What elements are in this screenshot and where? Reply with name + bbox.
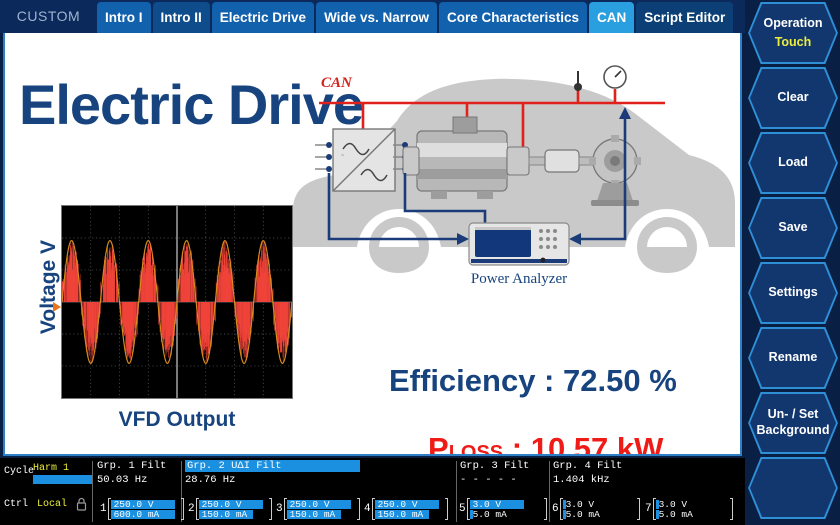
bar-value: 150.0 mA [375,509,424,520]
inverter-terminals [315,142,332,172]
harmonic-bar [33,475,92,484]
channel-voltage-bar: 3.0 V [470,500,544,509]
harmonic-label: Harm 1 [33,463,69,474]
channel-1[interactable]: 1250.0 V600.0 mA [100,498,184,520]
channel-4[interactable]: 4250.0 V150.0 mA [364,498,448,520]
tab-bar: CUSTOM Intro IIntro IIElectric DriveWide… [0,0,745,33]
tab-electric-drive[interactable]: Electric Drive [212,2,314,33]
channel-bracket-right [637,498,640,520]
channel-bracket-right [445,498,448,520]
group-title: Grp. 4 Filt [553,460,622,472]
channel-number: 2 [188,503,195,515]
softkey-blank-7[interactable] [748,457,838,519]
bar-value: 600.0 mA [111,509,160,520]
status-divider [456,461,457,522]
group-4[interactable]: Grp. 4 Filt1.404 kHz [553,460,622,486]
power-analyzer-label: Power Analyzer [471,271,567,287]
channel-bracket-right [181,498,184,520]
softkey-label: Un- / Set Background [757,407,830,438]
channel-bracket-right [269,498,272,520]
inverter-icon: ~ [333,129,395,191]
power-analyzer-icon [469,223,569,265]
speed-gauge-icon [604,66,626,88]
channel-number: 1 [100,503,107,515]
softkey-sublabel: Touch [775,35,812,51]
channel-current-bar: 600.0 mA [111,510,181,519]
group-frequency: 1.404 kHz [553,474,622,486]
softkey-clear[interactable]: Clear [748,67,838,129]
group-frequency: - - - - - [460,474,529,486]
channel-current-bar: 5.0 mA [563,510,637,519]
softkey-operation[interactable]: OperationTouch [748,2,838,64]
power-loss-value: 10.57 kW [531,431,664,456]
efficiency-value: 72.50 % [563,363,677,398]
waveform-y-axis-label: Voltage V [37,217,61,357]
status-bar: Cycle Harm 1 Ctrl Local Grp. 1 Filt50.03… [0,458,745,525]
channel-3[interactable]: 3250.0 V150.0 mA [276,498,360,520]
channel-bracket-right [730,498,733,520]
channel-voltage-bar: 250.0 V [375,500,445,509]
softkey-rename[interactable]: Rename [748,327,838,389]
waveform-plot[interactable] [61,205,293,399]
bar-value: 5.0 mA [470,509,507,520]
channel-bracket-right [544,498,547,520]
efficiency-readout: Efficiency : 72.50 % [389,363,677,399]
trigger-arrow-icon [53,302,61,312]
channel-number: 4 [364,503,371,515]
power-loss-readout: PLOSS : 10.57 kW [428,431,663,456]
bar-value: 5.0 mA [656,509,693,520]
local-mode-label: Local [37,499,67,510]
group-2[interactable]: Grp. 2 UΔI Filt28.76 Hz [185,460,360,486]
channel-6[interactable]: 63.0 V5.0 mA [552,498,640,520]
bar-value: 5.0 mA [563,509,600,520]
softkey-label: Operation [763,16,822,32]
channel-number: 5 [459,503,466,515]
softkey-label: Clear [777,90,808,106]
group-3[interactable]: Grp. 3 Filt- - - - - [460,460,529,486]
status-divider [92,461,93,522]
power-loss-label: P [428,431,449,456]
tab-can[interactable]: CAN [589,2,634,33]
soft-key-sidebar: OperationTouchClearLoadSaveSettingsRenam… [745,0,840,525]
tab-wide-vs-narrow[interactable]: Wide vs. Narrow [316,2,437,33]
tab-intro-i[interactable]: Intro I [97,2,151,33]
channel-current-bar: 5.0 mA [470,510,544,519]
softkey-label: Settings [768,285,817,301]
tab-core-characteristics[interactable]: Core Characteristics [439,2,587,33]
channel-7[interactable]: 73.0 V5.0 mA [645,498,733,520]
group-title: Grp. 3 Filt [460,460,529,472]
softkey-label: Save [778,220,807,236]
can-label: CAN [321,75,353,91]
power-loss-separator: : [503,431,531,456]
group-frequency: 28.76 Hz [185,474,360,486]
channel-number: 3 [276,503,283,515]
torque-sensor-icon [574,71,582,91]
channel-current-bar: 5.0 mA [656,510,730,519]
channel-bracket-right [357,498,360,520]
group-1[interactable]: Grp. 1 Filt50.03 Hz [97,460,166,486]
bar-value: 150.0 mA [199,509,248,520]
softkey-save[interactable]: Save [748,197,838,259]
channel-number: 6 [552,503,559,515]
channel-voltage-bar: 250.0 V [199,500,269,509]
channel-number: 7 [645,503,652,515]
tab-script-editor[interactable]: Script Editor [636,2,733,33]
ctrl-label: Ctrl [4,499,28,510]
softkey-settings[interactable]: Settings [748,262,838,324]
lock-icon [76,497,87,511]
power-loss-subscript: LOSS [449,442,503,456]
tab-intro-ii[interactable]: Intro II [153,2,210,33]
softkey-label: Load [778,155,808,171]
application-window: CUSTOM Intro IIntro IIElectric DriveWide… [0,0,840,525]
softkey-load[interactable]: Load [748,132,838,194]
electric-drive-diagram: CAN ~ [285,51,740,316]
waveform-panel: Voltage V VFD Output [23,203,303,443]
channel-5[interactable]: 53.0 V5.0 mA [459,498,547,520]
group-title: Grp. 1 Filt [97,460,166,472]
channel-current-bar: 150.0 mA [199,510,269,519]
efficiency-label: Efficiency : [389,363,554,398]
content-panel: Electric Drive CAN [3,33,742,456]
status-divider [549,461,550,522]
channel-current-bar: 150.0 mA [375,510,445,519]
group-title: Grp. 2 UΔI Filt [185,460,360,472]
channel-current-bar: 150.0 mA [287,510,357,519]
custom-label: CUSTOM [0,0,97,33]
cycle-label: Cycle [4,466,34,477]
channel-voltage-bar: 3.0 V [656,500,730,509]
channel-voltage-bar: 3.0 V [563,500,637,509]
channel-2[interactable]: 2250.0 V150.0 mA [188,498,272,520]
bar-value: 150.0 mA [287,509,336,520]
waveform-caption: VFD Output [61,408,293,432]
softkey-un-set-background[interactable]: Un- / Set Background [748,392,838,454]
group-frequency: 50.03 Hz [97,474,166,486]
svg-text:~: ~ [341,153,344,159]
channel-voltage-bar: 250.0 V [111,500,181,509]
channel-voltage-bar: 250.0 V [287,500,357,509]
softkey-label: Rename [769,350,818,366]
